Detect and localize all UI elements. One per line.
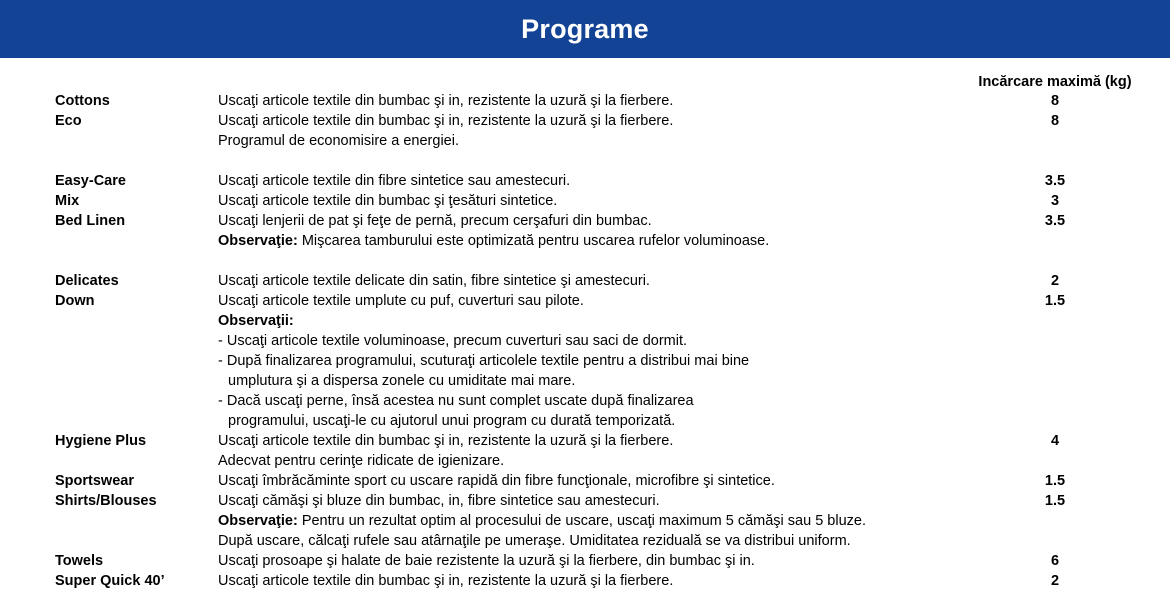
program-name: Down <box>55 291 215 311</box>
table-row: Bed LinenUscaţi lenjerii de pat şi feţe … <box>0 211 1170 231</box>
program-description: Uscaţi lenjerii de pat şi feţe de pernă,… <box>218 211 958 231</box>
max-load-value: 2 <box>950 571 1160 591</box>
program-name: Cottons <box>55 91 215 111</box>
table-row: După uscare, călcaţi rufele sau atârnaţi… <box>0 531 1170 551</box>
table-row: DelicatesUscaţi articole textile delicat… <box>0 271 1170 291</box>
program-description: programului, uscaţi-le cu ajutorul unui … <box>228 411 968 431</box>
note-label: Observaţie: <box>218 513 298 529</box>
program-name: Towels <box>55 551 215 571</box>
table-row: - După finalizarea programului, scuturaţ… <box>0 351 1170 371</box>
note-label: Observaţie: <box>218 233 298 249</box>
table-row: Programul de economisire a energiei. <box>0 131 1170 151</box>
program-description: Uscaţi articole textile delicate din sat… <box>218 271 958 291</box>
table-row: Adecvat pentru cerinţe ridicate de igien… <box>0 451 1170 471</box>
table-row: MixUscaţi articole textile din bumbac şi… <box>0 191 1170 211</box>
program-note: Observaţie: Mişcarea tamburului este opt… <box>218 231 958 251</box>
program-name: Hygiene Plus <box>55 431 215 451</box>
program-description: Uscaţi articole textile din bumbac şi in… <box>218 91 958 111</box>
note-label: Observaţii: <box>218 313 294 329</box>
program-name: Eco <box>55 111 215 131</box>
program-description: Uscaţi cămăşi şi bluze din bumbac, in, f… <box>218 491 958 511</box>
note-text: Pentru un rezultat optim al procesului d… <box>298 513 866 529</box>
program-name: Delicates <box>55 271 215 291</box>
program-note: Observaţii: <box>218 311 958 331</box>
max-load-value: 6 <box>950 551 1160 571</box>
max-load-value: 8 <box>950 111 1160 131</box>
program-note: Observaţie: Pentru un rezultat optim al … <box>218 511 958 531</box>
max-load-value: 3.5 <box>950 211 1160 231</box>
program-description: - După finalizarea programului, scuturaţ… <box>218 351 958 371</box>
program-description: umplutura şi a dispersa zonele cu umidit… <box>228 371 968 391</box>
table-row: programului, uscaţi-le cu ajutorul unui … <box>0 411 1170 431</box>
table-row: Observaţie: Pentru un rezultat optim al … <box>0 511 1170 531</box>
max-load-value: 3.5 <box>950 171 1160 191</box>
spacer-row <box>0 251 1170 271</box>
program-description: Uscaţi articole textile din bumbac şi in… <box>218 571 958 591</box>
program-name: Shirts/Blouses <box>55 491 215 511</box>
programs-page: Programe Incărcare maximă (kg) CottonsUs… <box>0 0 1170 555</box>
program-description: Uscaţi prosoape şi halate de baie rezist… <box>218 551 958 571</box>
programs-table: Incărcare maximă (kg) CottonsUscaţi arti… <box>0 58 1170 555</box>
program-description: Uscaţi articole textile din bumbac şi in… <box>218 431 958 451</box>
program-name: Easy-Care <box>55 171 215 191</box>
table-row: EcoUscaţi articole textile din bumbac şi… <box>0 111 1170 131</box>
program-name: Sportswear <box>55 471 215 491</box>
program-description: - Dacă uscaţi perne, însă acestea nu sun… <box>218 391 958 411</box>
program-description: Uscaţi articole textile din fibre sintet… <box>218 171 958 191</box>
page-header-banner: Programe <box>0 0 1170 58</box>
max-load-value: 1.5 <box>950 471 1160 491</box>
table-row: Easy-CareUscaţi articole textile din fib… <box>0 171 1170 191</box>
program-description: Adecvat pentru cerinţe ridicate de igien… <box>218 451 958 471</box>
program-description: Uscaţi articole textile umplute cu puf, … <box>218 291 958 311</box>
table-row: DownUscaţi articole textile umplute cu p… <box>0 291 1170 311</box>
table-row: Observaţie: Mişcarea tamburului este opt… <box>0 231 1170 251</box>
program-description: Uscaţi articole textile din bumbac şi in… <box>218 111 958 131</box>
table-row: SportswearUscaţi îmbrăcăminte sport cu u… <box>0 471 1170 491</box>
program-description: Uscaţi articole textile din bumbac şi ţe… <box>218 191 958 211</box>
program-description: După uscare, călcaţi rufele sau atârnaţi… <box>218 531 958 551</box>
column-header-max-load: Incărcare maximă (kg) <box>950 74 1160 90</box>
program-rows: CottonsUscaţi articole textile din bumba… <box>0 91 1170 591</box>
program-description: Uscaţi îmbrăcăminte sport cu uscare rapi… <box>218 471 958 491</box>
table-row: - Dacă uscaţi perne, însă acestea nu sun… <box>0 391 1170 411</box>
program-description: - Uscaţi articole textile voluminoase, p… <box>218 331 958 351</box>
max-load-value: 1.5 <box>950 291 1160 311</box>
max-load-value: 4 <box>950 431 1160 451</box>
spacer-row <box>0 151 1170 171</box>
page-title: Programe <box>521 16 649 43</box>
table-row: CottonsUscaţi articole textile din bumba… <box>0 91 1170 111</box>
table-row: TowelsUscaţi prosoape şi halate de baie … <box>0 551 1170 571</box>
table-row: Observaţii: <box>0 311 1170 331</box>
program-name: Bed Linen <box>55 211 215 231</box>
table-row: umplutura şi a dispersa zonele cu umidit… <box>0 371 1170 391</box>
table-row: Super Quick 40’Uscaţi articole textile d… <box>0 571 1170 591</box>
max-load-value: 3 <box>950 191 1160 211</box>
program-name: Mix <box>55 191 215 211</box>
table-row: - Uscaţi articole textile voluminoase, p… <box>0 331 1170 351</box>
table-row: Shirts/BlousesUscaţi cămăşi şi bluze din… <box>0 491 1170 511</box>
note-text: Mişcarea tamburului este optimizată pent… <box>298 233 769 249</box>
table-row: Hygiene PlusUscaţi articole textile din … <box>0 431 1170 451</box>
program-description: Programul de economisire a energiei. <box>218 131 958 151</box>
program-name: Super Quick 40’ <box>55 571 215 591</box>
max-load-value: 8 <box>950 91 1160 111</box>
max-load-value: 2 <box>950 271 1160 291</box>
max-load-value: 1.5 <box>950 491 1160 511</box>
